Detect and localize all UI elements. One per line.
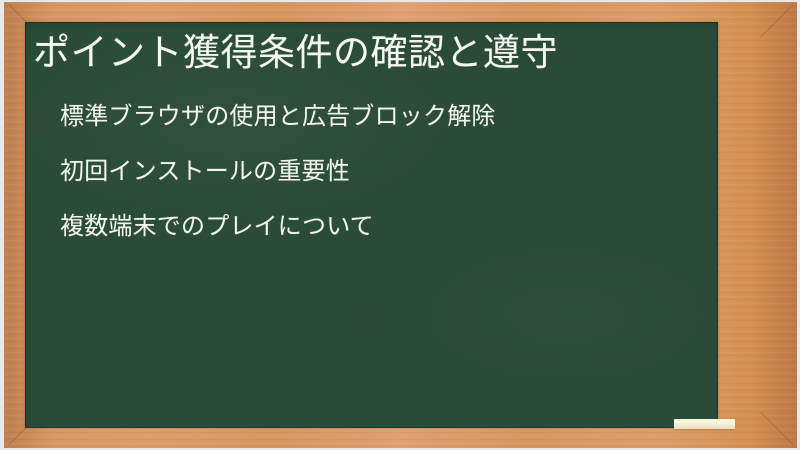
chalkboard-slide: ポイント獲得条件の確認と遵守 標準ブラウザの使用と広告ブロック解除 初回インスト… <box>0 0 800 450</box>
bullet-list: 標準ブラウザの使用と広告ブロック解除 初回インストールの重要性 複数端末でのプレ… <box>60 104 496 269</box>
bullet-item: 初回インストールの重要性 <box>60 159 496 214</box>
frame-corner-top-right <box>760 4 794 38</box>
bullet-item: 複数端末でのプレイについて <box>60 214 496 269</box>
slide-title: ポイント獲得条件の確認と遵守 <box>33 31 558 75</box>
frame-corner-bottom-right <box>760 412 794 446</box>
board-content: ポイント獲得条件の確認と遵守 標準ブラウザの使用と広告ブロック解除 初回インスト… <box>25 22 718 428</box>
chalk-stick-icon <box>674 419 735 429</box>
bullet-item: 標準ブラウザの使用と広告ブロック解除 <box>60 104 496 159</box>
chalkboard-surface: ポイント獲得条件の確認と遵守 標準ブラウザの使用と広告ブロック解除 初回インスト… <box>25 22 718 428</box>
